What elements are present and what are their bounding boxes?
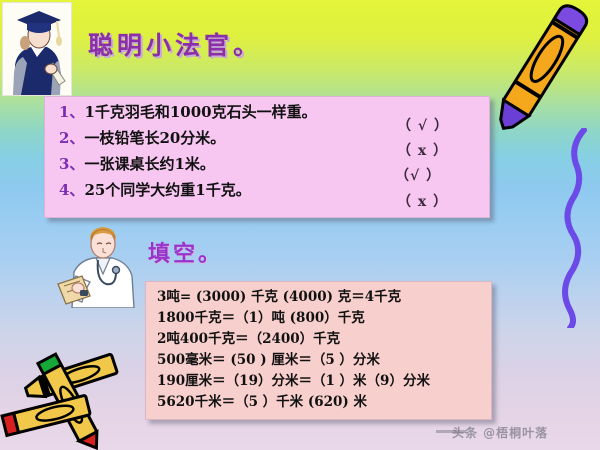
slide-canvas: 聪明小法官。 1、1千克羽毛和1000克石头一样重。 2、一枝铅笔长20分米。 … [0, 0, 600, 450]
judge-answer-mark: （ x ） [397, 191, 448, 211]
watermark-text: 头条 @梧桐叶落 [452, 424, 548, 441]
judge-item-text: 25个同学大约重1千克。 [84, 181, 250, 199]
judge-item-text: 一枝铅笔长20分米。 [84, 129, 225, 147]
judge-answer-mark: （ √ ） [397, 115, 449, 135]
fill-row: 2吨400千克＝（2400）千克 [157, 333, 340, 347]
fill-row: 1800千克＝（1）吨 (800）千克 [157, 312, 365, 326]
fill-row: 500毫米＝ (50 ) 厘米＝（5 ）分米 [157, 354, 380, 368]
judge-item-number: 4、 [59, 181, 84, 199]
judge-answer-mark: （√ ） [395, 165, 441, 185]
judge-item-text: 一张课桌长约1米。 [84, 155, 214, 173]
fill-in-blank-heading: 填空。 [148, 236, 223, 268]
judge-answer-mark: （ x ） [397, 140, 448, 160]
page-title: 聪明小法官。 [88, 26, 262, 62]
crayons-group-icon [0, 342, 132, 450]
judge-item-text: 1千克羽毛和1000克石头一样重。 [84, 103, 316, 121]
fill-row: 5620千米＝（5 ）千米 (620) 米 [157, 396, 367, 410]
fill-row: 3吨= (3000) 千克 (4000) 克＝4千克 [157, 291, 401, 305]
graduate-student-icon [2, 2, 72, 96]
purple-squiggle-line [540, 128, 600, 328]
judge-item-number: 3、 [59, 155, 84, 173]
judge-item-number: 2、 [59, 129, 84, 147]
judge-item-number: 1、 [59, 103, 84, 121]
judge-questions-box: 1、1千克羽毛和1000克石头一样重。 2、一枝铅笔长20分米。 3、一张课桌长… [44, 96, 490, 218]
crayon-icon [487, 0, 599, 138]
doctor-with-clipboard-icon [56, 224, 152, 308]
fill-in-blank-box: 3吨= (3000) 千克 (4000) 克＝4千克 1800千克＝（1）吨 (… [145, 281, 492, 420]
fill-row: 190厘米＝（19）分米＝（1 ）米（9）分米 [157, 375, 430, 389]
